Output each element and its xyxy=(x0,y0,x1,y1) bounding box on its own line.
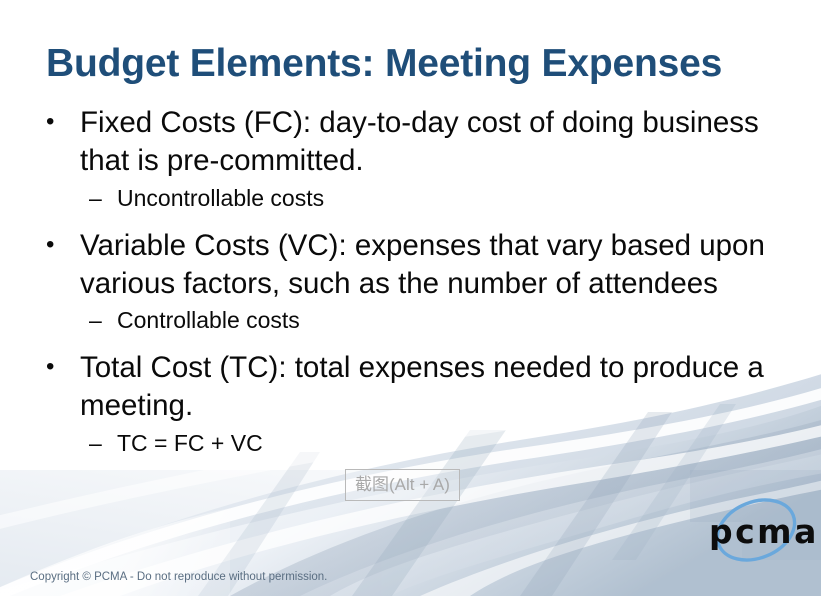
bullet-marker: • xyxy=(46,227,54,263)
pcma-logo: pcma xyxy=(700,489,812,573)
bullet-marker: • xyxy=(46,349,54,385)
sub-bullet-item: – TC = FC + VC xyxy=(36,428,798,459)
sub-bullet-marker: – xyxy=(89,183,102,214)
footer-copyright: Copyright © PCMA - Do not reproduce with… xyxy=(30,571,327,583)
bullet-item: • Total Cost (TC): total expenses needed… xyxy=(36,349,798,426)
screenshot-capture-button[interactable]: 截图(Alt + A) xyxy=(345,469,460,501)
slide-title: Budget Elements: Meeting Expenses xyxy=(46,42,786,86)
sub-bullet-text: Uncontrollable costs xyxy=(117,185,324,211)
bullet-item: • Variable Costs (VC): expenses that var… xyxy=(36,227,798,304)
bullet-text: Total Cost (TC): total expenses needed t… xyxy=(80,351,764,422)
sub-bullet-marker: – xyxy=(89,305,102,336)
sub-bullet-text: TC = FC + VC xyxy=(117,430,263,456)
bullet-item: • Fixed Costs (FC): day-to-day cost of d… xyxy=(36,104,798,181)
bullet-list: • Fixed Costs (FC): day-to-day cost of d… xyxy=(36,104,798,465)
bullet-text: Fixed Costs (FC): day-to-day cost of doi… xyxy=(80,106,759,177)
bullet-marker: • xyxy=(46,104,54,140)
sub-bullet-item: – Uncontrollable costs xyxy=(36,183,798,214)
slide-canvas: Budget Elements: Meeting Expenses • Fixe… xyxy=(0,0,821,596)
sub-bullet-text: Controllable costs xyxy=(117,307,300,333)
pcma-wordmark: pcma xyxy=(709,515,809,548)
bullet-text: Variable Costs (VC): expenses that vary … xyxy=(80,229,765,300)
sub-bullet-marker: – xyxy=(89,428,102,459)
sub-bullet-item: – Controllable costs xyxy=(36,305,798,336)
